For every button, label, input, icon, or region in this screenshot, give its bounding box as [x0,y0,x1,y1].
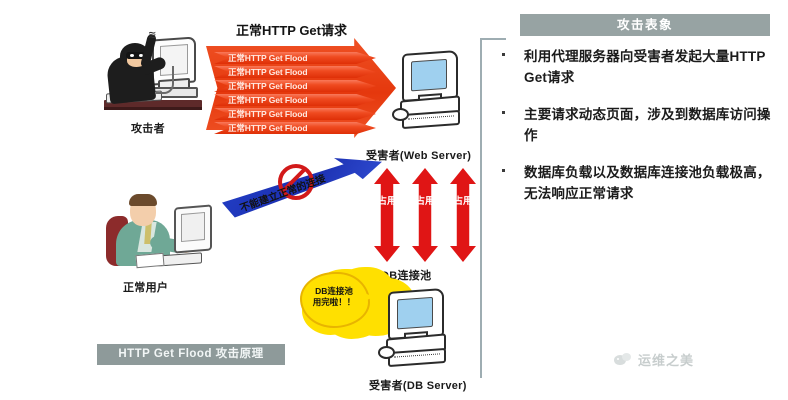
db-pool-label: DB连接池 [381,267,431,283]
occupy-label: 占用 [412,196,438,207]
normal-http-get-title: 正常HTTP Get请求 [236,20,347,39]
web-server-illustration [392,52,466,130]
list-item-label: 数据库负载以及数据库连接池负载极高，无法响应正常请求 [524,165,771,201]
flood-arrow-label: 正常HTTP Get Flood [214,80,376,92]
watermark: 运维之美 [614,350,694,369]
bullet-dot-icon [502,53,505,56]
http-get-flood-arrows: 正常HTTP Get Flood 正常HTTP Get Flood 正常HTTP… [206,38,396,138]
slide-canvas: 正常HTTP Get请求 ≋ 攻击者 正常HTTP Get Flood 正常HT… [0,0,788,400]
db-pool-exhausted-callout: DB连接池 用完啦！！ [300,272,372,328]
keyboard-shape [402,110,460,129]
flood-arrow-row: 正常HTTP Get Flood [214,122,376,134]
list-item-label: 利用代理服务器向受害者发起大量HTTP Get请求 [524,49,765,85]
flood-arrow-row: 正常HTTP Get Flood [214,94,376,106]
occupy-arrow [412,168,438,262]
list-item: 主要请求动态页面，涉及到数据库访问操作 [498,104,780,146]
burst-text: DB连接池 用完啦！！ [308,286,360,308]
monitor-screen [181,212,205,242]
flood-arrow-row: 正常HTTP Get Flood [214,80,376,92]
user-hair [129,194,157,206]
occupy-label: 占用 [374,196,400,207]
flood-arrow-label: 正常HTTP Get Flood [214,108,376,120]
db-pool-occupy-arrows: 占用 占用 占用 [374,168,478,262]
burst-tail [362,292,374,302]
normal-user-illustration [100,192,212,274]
list-item-label: 主要请求动态页面，涉及到数据库访问操作 [524,107,771,143]
flood-arrow-row: 正常HTTP Get Flood [214,66,376,78]
panel-divider [480,38,482,378]
flood-arrow-row: 正常HTTP Get Flood [214,108,376,120]
diagram-title-bar: HTTP Get Flood 攻击原理 [97,344,285,365]
list-item: 利用代理服务器向受害者发起大量HTTP Get请求 [498,46,780,88]
bullet-dot-icon [502,169,505,172]
bullet-dot-icon [502,111,505,114]
db-server-label: 受害者(DB Server) [369,377,467,393]
flood-arrow-row: 正常HTTP Get Flood [214,52,376,64]
flood-arrow-label: 正常HTTP Get Flood [214,122,376,134]
burst-line-1: DB连接池 [308,286,360,297]
watermark-label: 运维之美 [638,350,694,369]
flood-arrow-label: 正常HTTP Get Flood [214,94,376,106]
blocked-connection-arrow: 正常HTTP Get Flood 不能建立正常的连接 [222,158,382,220]
occupy-label: 占用 [450,196,476,207]
db-server-illustration [378,290,452,368]
monitor-screen [411,59,447,92]
panel-corner-bracket [480,38,506,40]
flood-arrow-label: 正常HTTP Get Flood [214,66,376,78]
occupy-arrow [450,168,476,262]
attacker-label: 攻击者 [131,120,165,136]
phone-cord [156,66,174,94]
panda-logo-icon [614,353,632,367]
attack-symptoms-list: 利用代理服务器向受害者发起大量HTTP Get请求 主要请求动态页面，涉及到数据… [498,46,780,220]
keyboard-shape [388,348,446,367]
paper-sheet [135,253,164,268]
occupy-arrow [374,168,400,262]
normal-user-label: 正常用户 [123,279,168,295]
signal-wave-icon: ≋ [148,30,162,40]
attacker-illustration: ≋ [100,30,205,115]
flood-arrow-label: 正常HTTP Get Flood [214,52,376,64]
monitor-shape [174,204,212,253]
panel-header: 攻击表象 [520,14,770,36]
list-item: 数据库负载以及数据库连接池负载极高，无法响应正常请求 [498,162,780,204]
mouse-icon [378,346,395,359]
mouse-icon [392,108,409,121]
monitor-screen [397,297,433,330]
burst-line-2: 用完啦！！ [308,297,360,308]
